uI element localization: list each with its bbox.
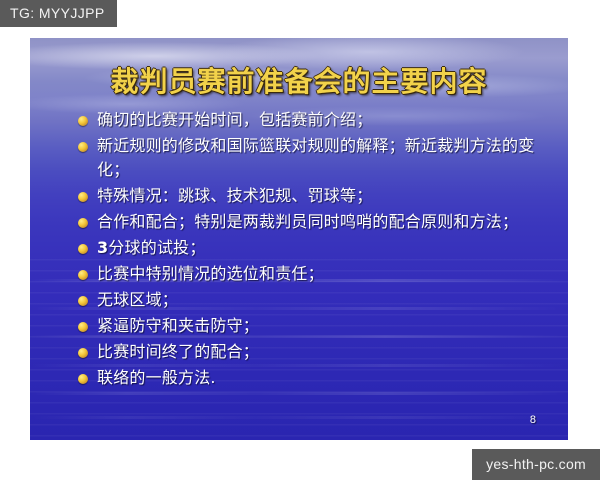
list-item: 新近规则的修改和国际篮联对规则的解释；新近裁判方法的变化；: [78, 134, 548, 182]
list-item-label: 特殊情况：跳球、技术犯规、罚球等；: [97, 184, 372, 208]
list-item-label: 比赛时间终了的配合；: [97, 340, 259, 364]
list-item: 3分球的试投；: [78, 236, 548, 260]
list-item-label: 无球区域；: [97, 288, 178, 312]
bullet-point-icon: [78, 244, 88, 254]
list-item: 特殊情况：跳球、技术犯规、罚球等；: [78, 184, 548, 208]
bullet-list: 确切的比赛开始时间，包括赛前介绍； 新近规则的修改和国际篮联对规则的解释；新近裁…: [78, 108, 548, 392]
list-item: 联络的一般方法.: [78, 366, 548, 390]
bullet-point-icon: [78, 218, 88, 228]
list-item: 确切的比赛开始时间，包括赛前介绍；: [78, 108, 548, 132]
slide-page-number: 8: [530, 414, 536, 426]
bullet-point-icon: [78, 296, 88, 306]
list-item-label: 联络的一般方法.: [97, 366, 216, 390]
list-item: 紧逼防守和夹击防守；: [78, 314, 548, 338]
bullet-point-icon: [78, 116, 88, 126]
list-item-label: 比赛中特别情况的选位和责任；: [97, 262, 324, 286]
list-item: 合作和配合；特别是两裁判员同时鸣哨的配合原则和方法；: [78, 210, 548, 234]
bullet-point-icon: [78, 142, 88, 152]
top-left-watermark: TG: MYYJJPP: [0, 0, 117, 27]
list-item-label: 合作和配合；特别是两裁判员同时鸣哨的配合原则和方法；: [97, 210, 518, 234]
list-item-label: 紧逼防守和夹击防守；: [97, 314, 259, 338]
list-item-label: 3分球的试投；: [97, 236, 206, 260]
bullet-point-icon: [78, 348, 88, 358]
bullet-point-icon: [78, 192, 88, 202]
bullet-point-icon: [78, 374, 88, 384]
bullet-point-icon: [78, 322, 88, 332]
list-item: 比赛中特别情况的选位和责任；: [78, 262, 548, 286]
presentation-slide: 裁判员赛前准备会的主要内容 确切的比赛开始时间，包括赛前介绍； 新近规则的修改和…: [30, 38, 568, 440]
bullet-point-icon: [78, 270, 88, 280]
water-ripple-band: [30, 392, 568, 395]
water-ripple-band: [30, 416, 568, 419]
list-item-label: 确切的比赛开始时间，包括赛前介绍；: [97, 108, 372, 132]
list-item: 比赛时间终了的配合；: [78, 340, 548, 364]
slide-title: 裁判员赛前准备会的主要内容: [30, 60, 568, 100]
bottom-right-watermark: yes-hth-pc.com: [472, 449, 600, 480]
list-item: 无球区域；: [78, 288, 548, 312]
list-item-label: 新近规则的修改和国际篮联对规则的解释；新近裁判方法的变化；: [97, 134, 548, 182]
